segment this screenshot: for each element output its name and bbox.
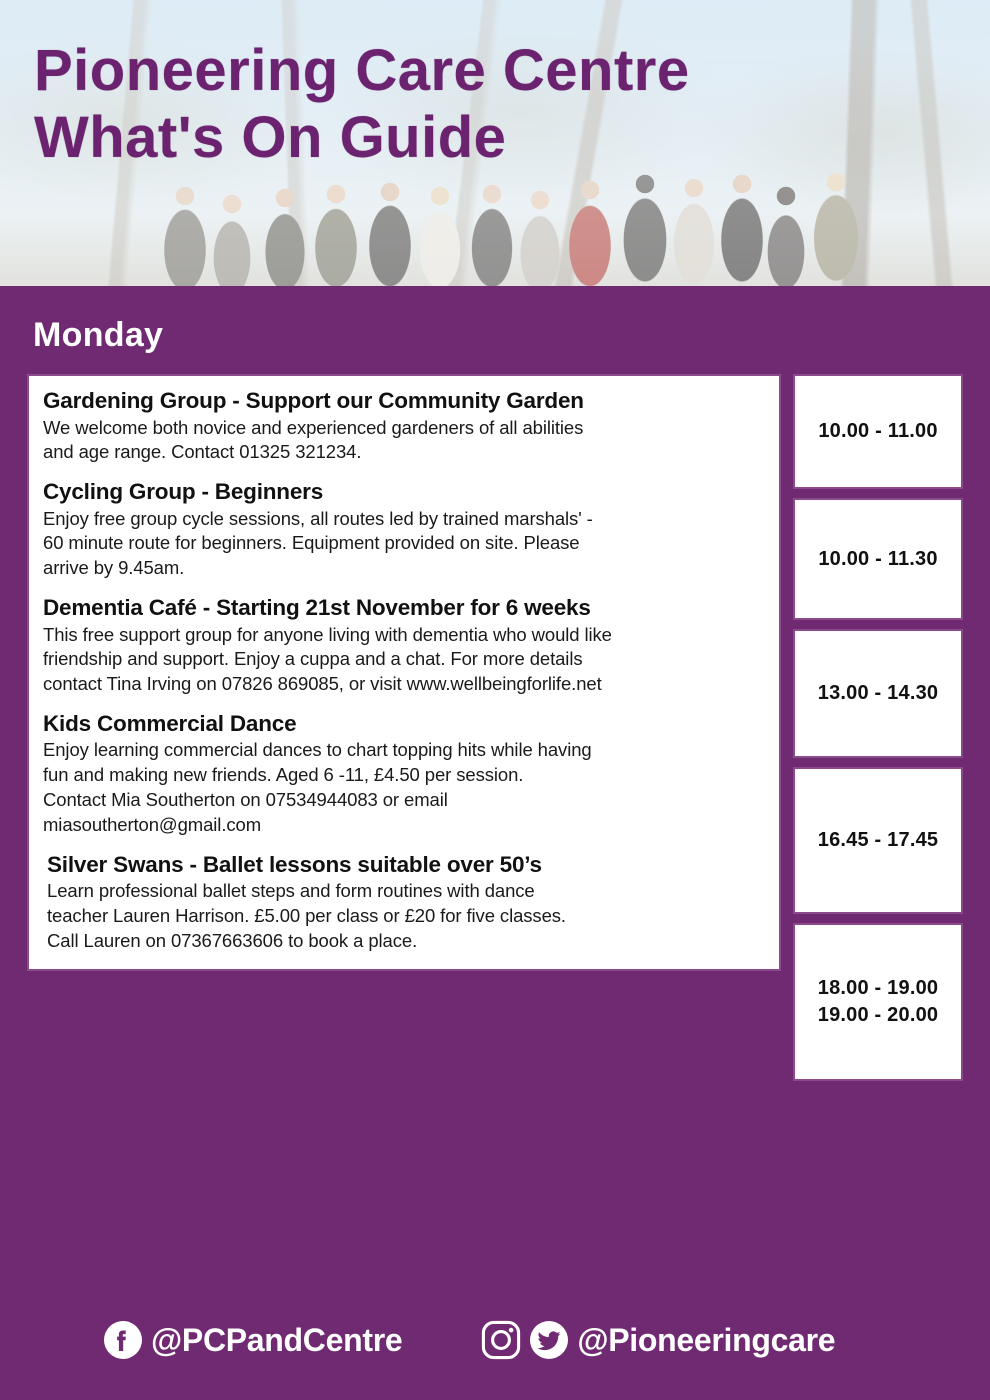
event-item: Dementia Café - Starting 21st November f… [43, 595, 765, 697]
event-description-line: Learn professional ballet steps and form… [47, 879, 765, 904]
events-card: Gardening Group - Support our Community … [27, 374, 781, 971]
event-description-line: 60 minute route for beginners. Equipment… [43, 531, 765, 556]
event-title: Gardening Group - Support our Community … [43, 388, 765, 415]
event-description-line: Contact Mia Southerton on 07534944083 or… [43, 788, 765, 813]
facebook-icon[interactable] [103, 1320, 143, 1360]
event-description: Enjoy learning commercial dances to char… [43, 738, 765, 837]
event-description: Enjoy free group cycle sessions, all rou… [43, 507, 765, 581]
facebook-link[interactable]: @PCPandCentre [103, 1320, 402, 1360]
time-box: 13.00 - 14.30 [793, 629, 963, 758]
event-description-line: fun and making new friends. Aged 6 -11, … [43, 763, 765, 788]
page-title-line-1: Pioneering Care Centre [34, 38, 690, 103]
time-value: 10.00 - 11.00 [818, 418, 937, 445]
twitter-handle[interactable]: @Pioneeringcare [577, 1322, 835, 1359]
time-box: 18.00 - 19.00 19.00 - 20.00 [793, 923, 963, 1081]
schedule-section: Monday Gardening Group - Support our Com… [0, 286, 990, 1400]
instagram-icon[interactable] [481, 1320, 521, 1360]
event-description: This free support group for anyone livin… [43, 623, 765, 697]
twitter-icon[interactable] [529, 1320, 569, 1360]
time-box: 10.00 - 11.30 [793, 498, 963, 620]
event-description: We welcome both novice and experienced g… [43, 416, 765, 466]
event-item: Gardening Group - Support our Community … [43, 388, 765, 465]
time-box: 16.45 - 17.45 [793, 767, 963, 914]
event-description-line: miasoutherton@gmail.com [43, 813, 765, 838]
time-value: 13.00 - 14.30 [818, 680, 938, 707]
page-title-line-2: What's On Guide [34, 105, 690, 172]
instagram-twitter-links[interactable]: @Pioneeringcare [481, 1320, 835, 1360]
event-description-line: Enjoy learning commercial dances to char… [43, 738, 765, 763]
time-value: 10.00 - 11.30 [818, 546, 937, 573]
event-description-line: Enjoy free group cycle sessions, all rou… [43, 507, 765, 532]
event-description: Learn professional ballet steps and form… [43, 879, 765, 953]
event-title: Kids Commercial Dance [43, 711, 765, 738]
time-value: 18.00 - 19.00 [818, 975, 938, 1002]
schedule-grid: Gardening Group - Support our Community … [27, 374, 963, 1081]
event-description-line: Call Lauren on 07367663606 to book a pla… [47, 929, 765, 954]
event-description-line: This free support group for anyone livin… [43, 623, 765, 648]
page-title: Pioneering Care Centre What's On Guide [34, 38, 690, 171]
event-description-line: We welcome both novice and experienced g… [43, 416, 765, 441]
time-value: 19.00 - 20.00 [818, 1002, 938, 1029]
event-title: Silver Swans - Ballet lessons suitable o… [43, 852, 765, 879]
event-description-line: friendship and support. Enjoy a cuppa an… [43, 647, 765, 672]
facebook-handle[interactable]: @PCPandCentre [151, 1322, 402, 1359]
event-item: Cycling Group - Beginners Enjoy free gro… [43, 479, 765, 581]
footer-social-bar: @PCPandCentre @Pioneeringcare [0, 1304, 990, 1376]
event-item: Kids Commercial Dance Enjoy learning com… [43, 711, 765, 838]
event-description-line: arrive by 9.45am. [43, 556, 765, 581]
header-banner: Pioneering Care Centre What's On Guide [0, 0, 990, 286]
event-description-line: teacher Lauren Harrison. £5.00 per class… [47, 904, 765, 929]
event-description-line: and age range. Contact 01325 321234. [43, 440, 765, 465]
event-title: Dementia Café - Starting 21st November f… [43, 595, 765, 622]
event-item: Silver Swans - Ballet lessons suitable o… [43, 852, 765, 954]
time-value: 16.45 - 17.45 [818, 827, 938, 854]
times-column: 10.00 - 11.00 10.00 - 11.30 13.00 - 14.3… [793, 374, 963, 1081]
day-heading: Monday [33, 316, 163, 355]
event-title: Cycling Group - Beginners [43, 479, 765, 506]
time-box: 10.00 - 11.00 [793, 374, 963, 489]
event-description-line: contact Tina Irving on 07826 869085, or … [43, 672, 765, 697]
